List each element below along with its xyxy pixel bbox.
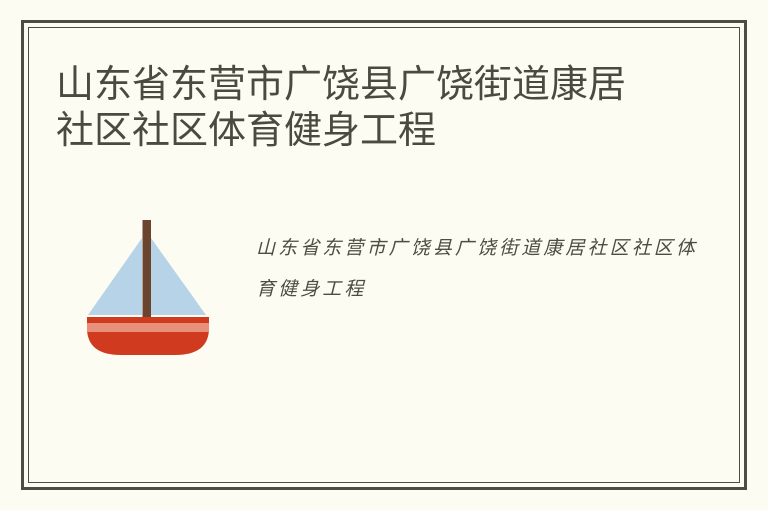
document-card: 山东省东营市广饶县广饶街道康居社区社区体育健身工程 xyxy=(21,20,747,490)
illustration-caption: 山东省东营市广饶县广饶街道康居社区社区体育健身工程 xyxy=(256,228,716,310)
sailboat-icon xyxy=(82,210,214,360)
document-card-inner-border: 山东省东营市广饶县广饶街道康居社区社区体育健身工程 xyxy=(28,27,740,483)
illustration-caption-row: 山东省东营市广饶县广饶街道康居社区社区体育健身工程 xyxy=(56,210,719,370)
page-title: 山东省东营市广饶县广饶街道康居社区社区体育健身工程 xyxy=(56,62,656,154)
document-content: 山东省东营市广饶县广饶街道康居社区社区体育健身工程 xyxy=(29,28,739,482)
